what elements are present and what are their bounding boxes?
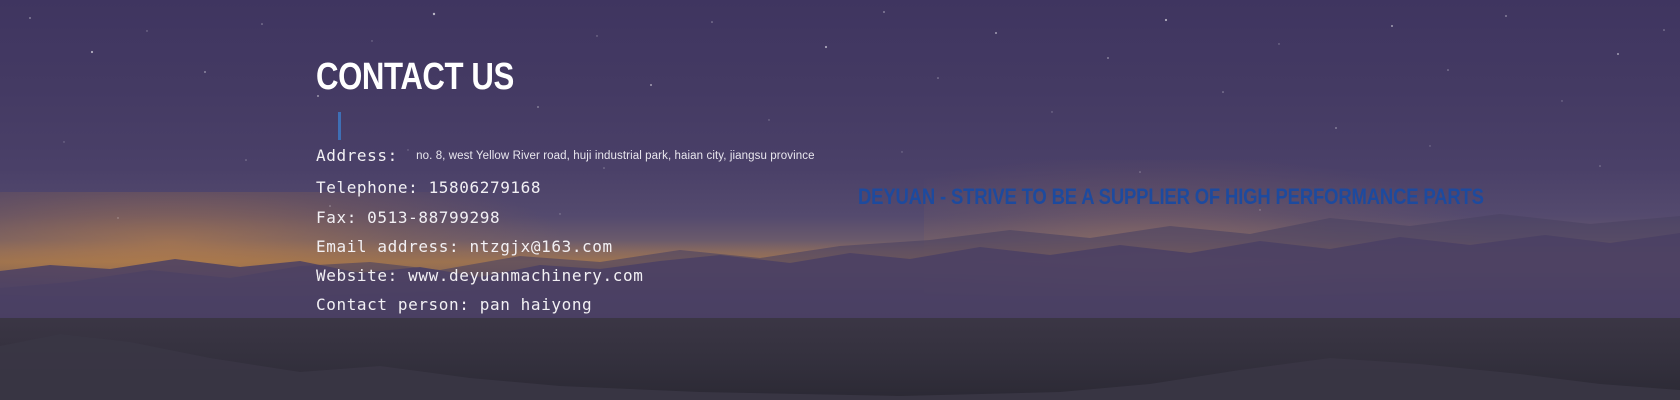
banner-content: CONTACT US Address: no. 8, west Yellow R… [0, 0, 1680, 400]
contact-row-telephone: Telephone: 15806279168 [316, 173, 936, 202]
contact-row-fax: Fax: 0513-88799298 [316, 203, 936, 232]
fax-label: Fax: [316, 208, 357, 227]
accent-bar-divider [338, 112, 341, 140]
heading-block: CONTACT US [316, 56, 557, 140]
contact-person-value: pan haiyong [480, 295, 593, 314]
email-value[interactable]: ntzgjx@163.com [470, 237, 613, 256]
fax-value: 0513-88799298 [367, 208, 500, 227]
contact-details-list: Address: no. 8, west Yellow River road, … [316, 141, 936, 320]
telephone-label: Telephone: [316, 178, 418, 197]
contact-banner: CONTACT US Address: no. 8, west Yellow R… [0, 0, 1680, 400]
contact-row-website: Website: www.deyuanmachinery.com [316, 261, 936, 290]
contact-person-label: Contact person: [316, 295, 470, 314]
company-tagline: DEYUAN - STRIVE TO BE A SUPPLIER OF HIGH… [858, 184, 1484, 210]
address-value: no. 8, west Yellow River road, huji indu… [416, 150, 814, 162]
contact-row-contact-person: Contact person: pan haiyong [316, 290, 936, 319]
contact-row-email: Email address: ntzgjx@163.com [316, 232, 936, 261]
address-label: Address: [316, 146, 398, 165]
website-value[interactable]: www.deyuanmachinery.com [408, 266, 643, 285]
website-label: Website: [316, 266, 398, 285]
page-title: CONTACT US [316, 56, 514, 98]
contact-row-address: Address: no. 8, west Yellow River road, … [316, 141, 936, 173]
telephone-value[interactable]: 15806279168 [429, 178, 542, 197]
email-label: Email address: [316, 237, 459, 256]
